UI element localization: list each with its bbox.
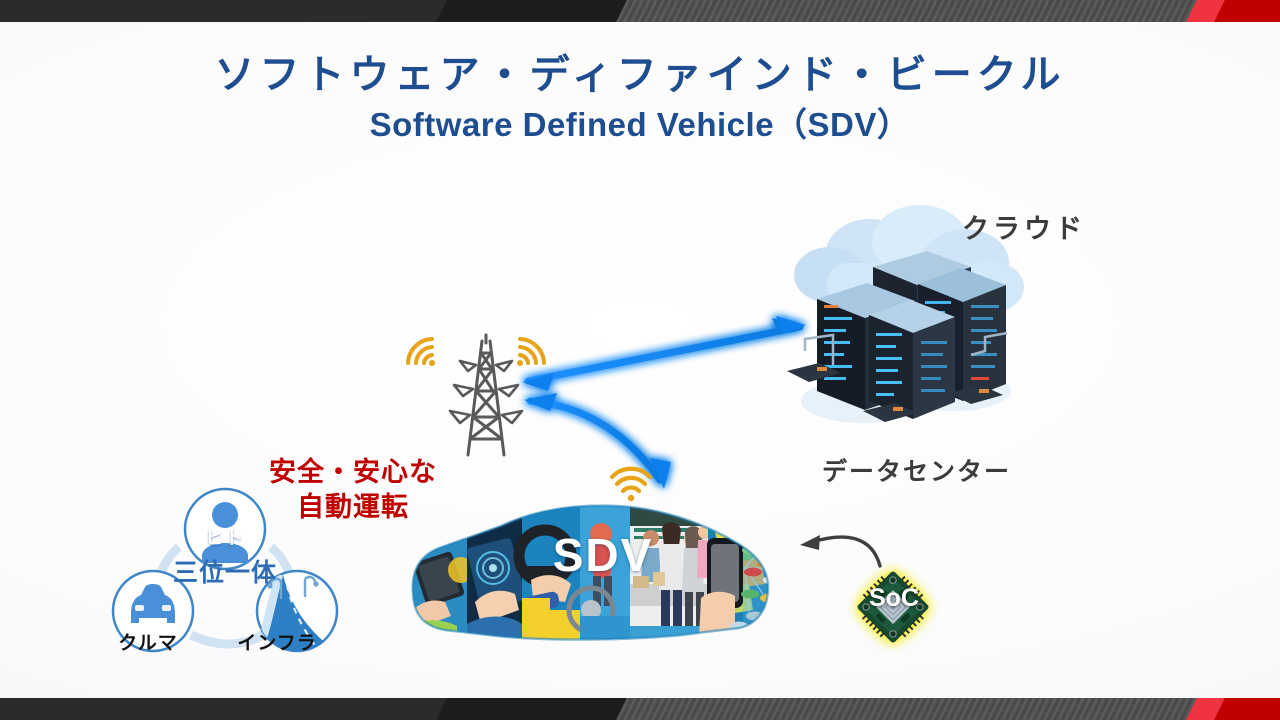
trinity-label-person: ヒト bbox=[175, 524, 275, 550]
transmission-tower-group bbox=[430, 335, 540, 460]
soc-chip-icon bbox=[838, 568, 948, 646]
trinity-label-car: クルマ bbox=[100, 628, 196, 655]
wifi-signal-icon bbox=[514, 337, 552, 371]
soc-chip-group bbox=[838, 568, 948, 646]
wifi-signal-icon bbox=[400, 337, 438, 371]
arrow-tower-datacenter bbox=[522, 316, 806, 391]
data-center-label: データセンター bbox=[822, 452, 1011, 488]
arrow-soc-vehicle bbox=[800, 535, 880, 566]
trinity-label-infrastructure: インフラ bbox=[222, 628, 332, 655]
cloud-label: クラウド bbox=[962, 207, 1086, 246]
vehicle-silhouette-icon bbox=[405, 498, 775, 646]
server-rack-icon bbox=[869, 300, 955, 419]
vehicle-silhouette-group bbox=[405, 498, 775, 646]
vehicle-collage bbox=[405, 498, 781, 646]
slide-canvas: ソフトウェア・ディファインド・ビークル Software Defined Veh… bbox=[0, 0, 1280, 720]
